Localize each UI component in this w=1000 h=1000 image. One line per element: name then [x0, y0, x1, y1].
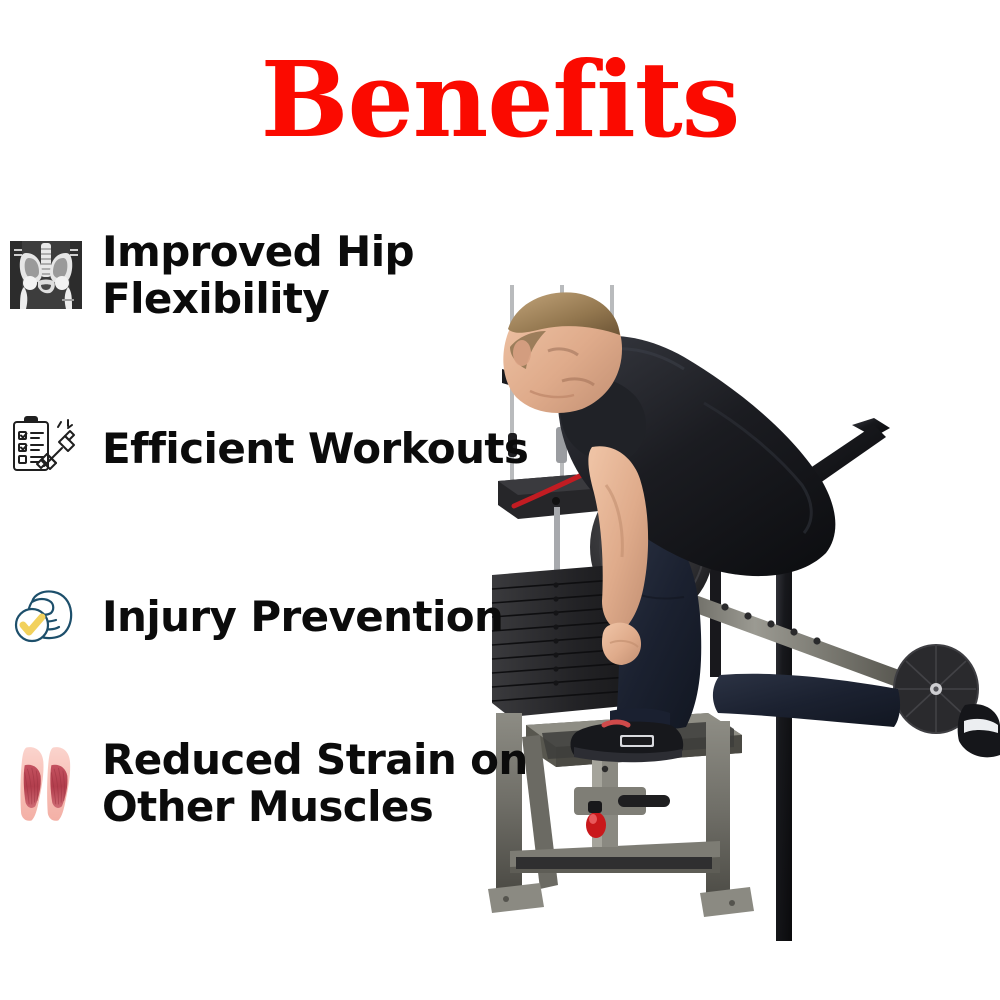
clipboard-dumbbell-icon: [6, 408, 86, 488]
benefits-list: Improved Hip Flexibility: [0, 218, 620, 830]
benefit-item-efficient-workouts: Efficient Workouts: [0, 408, 620, 488]
benefit-label: Efficient Workouts: [102, 425, 528, 472]
flexed-bicep-check-icon: [6, 576, 86, 656]
page-title: Benefits: [0, 48, 1000, 152]
calf-muscles-icon: [6, 743, 86, 823]
benefit-label: Reduced Strain on Other Muscles: [102, 736, 528, 830]
benefit-item-reduced-strain: Reduced Strain on Other Muscles: [0, 736, 620, 830]
benefit-label: Improved Hip Flexibility: [102, 228, 620, 322]
infographic-canvas: Benefits: [0, 0, 1000, 1000]
benefit-item-improved-hip-flexibility: Improved Hip Flexibility: [0, 228, 620, 322]
hip-xray-icon: [6, 235, 86, 315]
benefit-item-injury-prevention: Injury Prevention: [0, 576, 620, 656]
benefit-label: Injury Prevention: [102, 593, 503, 640]
